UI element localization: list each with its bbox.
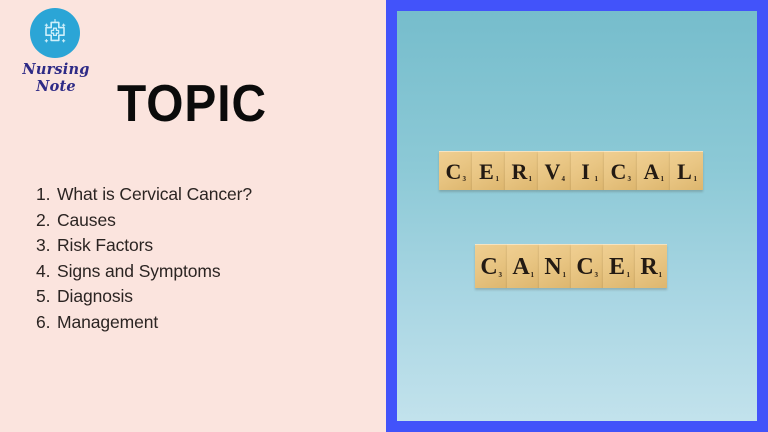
image-panel-border: C 3 E 1 R 1 V 4 I 1 [386, 0, 768, 432]
tile-points: 3 [628, 176, 632, 183]
scrabble-tile: C 3 [439, 151, 472, 190]
list-item: 3. Risk Factors [36, 233, 252, 259]
tile-points: 3 [463, 176, 467, 183]
tile-letter: C [480, 255, 497, 279]
tile-points: 3 [499, 272, 503, 279]
list-item: 1. What is Cervical Cancer? [36, 182, 252, 208]
left-content-panel: Nursing Note TOPIC 1. What is Cervical C… [0, 0, 386, 432]
list-item: 6. Management [36, 310, 252, 336]
scrabble-tile: V 4 [538, 151, 571, 190]
medical-cross-sparkle-icon [30, 8, 80, 58]
tile-letter: C [576, 255, 593, 279]
list-item-label: Diagnosis [57, 284, 133, 310]
brand-block: Nursing Note [10, 8, 130, 95]
list-item-label: Causes [57, 208, 116, 234]
tile-letter: C [611, 161, 627, 183]
tile-letter: E [479, 161, 494, 183]
tile-letter: A [644, 161, 660, 183]
list-item-number: 6. [36, 310, 57, 336]
tile-points: 1 [595, 176, 599, 183]
scrabble-tile: A 1 [507, 244, 539, 288]
list-item: 5. Diagnosis [36, 284, 252, 310]
scrabble-tile: R 1 [635, 244, 667, 288]
list-item-number: 5. [36, 284, 57, 310]
tile-points: 1 [531, 272, 535, 279]
page-title: TOPIC [117, 78, 267, 130]
scrabble-tile: I 1 [571, 151, 604, 190]
scrabble-tile: E 1 [472, 151, 505, 190]
tile-letter: R [640, 255, 657, 279]
list-item-label: Signs and Symptoms [57, 259, 221, 285]
tile-letter: I [581, 161, 590, 183]
scrabble-photo: C 3 E 1 R 1 V 4 I 1 [397, 11, 757, 421]
tile-letter: N [544, 255, 561, 279]
tile-letter: R [512, 161, 528, 183]
tile-letter: V [545, 161, 561, 183]
topic-list: 1. What is Cervical Cancer? 2. Causes 3.… [36, 182, 252, 335]
scrabble-tile: C 3 [571, 244, 603, 288]
list-item: 2. Causes [36, 208, 252, 234]
tile-points: 1 [661, 176, 665, 183]
tile-points: 1 [659, 272, 663, 279]
tile-letter: A [512, 255, 529, 279]
tile-row-cancer: C 3 A 1 N 1 C 3 E 1 [475, 244, 667, 288]
scrabble-tile: A 1 [637, 151, 670, 190]
list-item-number: 1. [36, 182, 57, 208]
scrabble-tile: L 1 [670, 151, 703, 190]
slide-canvas: Nursing Note TOPIC 1. What is Cervical C… [0, 0, 768, 432]
tile-letter: L [677, 161, 692, 183]
tile-letter: E [609, 255, 625, 279]
scrabble-tile: C 3 [475, 244, 507, 288]
list-item-label: Management [57, 310, 158, 336]
tile-points: 3 [595, 272, 599, 279]
list-item: 4. Signs and Symptoms [36, 259, 252, 285]
tile-points: 1 [529, 176, 533, 183]
list-item-number: 2. [36, 208, 57, 234]
tile-row-cervical: C 3 E 1 R 1 V 4 I 1 [439, 151, 703, 190]
brand-name: Nursing Note [10, 61, 102, 95]
scrabble-tile: R 1 [505, 151, 538, 190]
scrabble-tile: N 1 [539, 244, 571, 288]
scrabble-tile: C 3 [604, 151, 637, 190]
tile-points: 1 [563, 272, 567, 279]
scrabble-tile: E 1 [603, 244, 635, 288]
tile-points: 1 [627, 272, 631, 279]
tile-letter: C [446, 161, 462, 183]
list-item-label: What is Cervical Cancer? [57, 182, 252, 208]
list-item-number: 3. [36, 233, 57, 259]
tile-points: 1 [694, 176, 698, 183]
list-item-label: Risk Factors [57, 233, 153, 259]
tile-points: 1 [496, 176, 500, 183]
list-item-number: 4. [36, 259, 57, 285]
tile-points: 4 [562, 176, 566, 183]
